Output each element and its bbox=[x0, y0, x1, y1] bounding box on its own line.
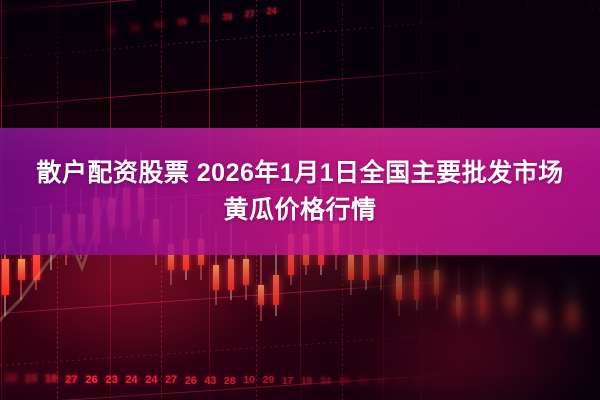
headline-line-2: 黄瓜价格行情 bbox=[223, 195, 376, 226]
headline-line-1: 散户配资股票 2026年1月1日全国主要批发市场 bbox=[36, 158, 563, 189]
chart-banner-image: 2830343831382724 19151827262324242726432… bbox=[0, 0, 600, 400]
headline-text-block: 散户配资股票 2026年1月1日全国主要批发市场 黄瓜价格行情 bbox=[0, 128, 600, 255]
